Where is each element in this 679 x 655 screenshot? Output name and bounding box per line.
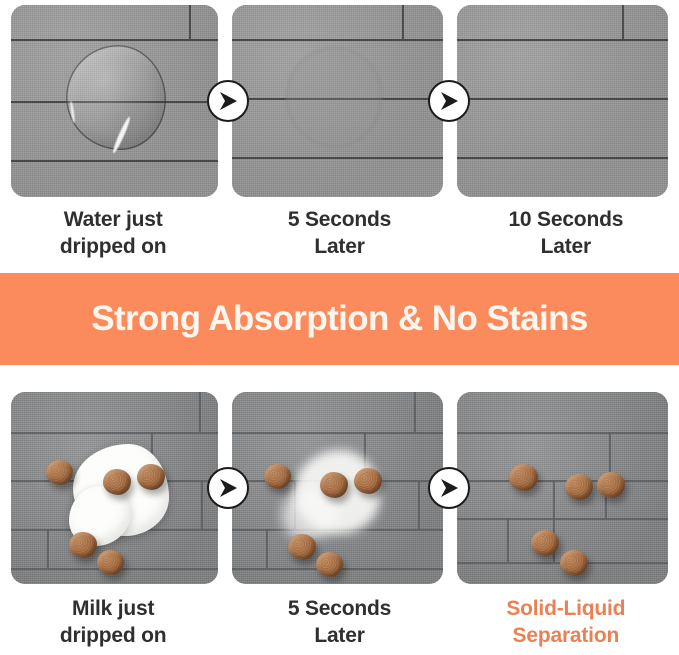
grout-line	[402, 5, 404, 39]
caption-line: Later	[453, 234, 679, 261]
caption-solid-liquid-separation: Solid-Liquid Separation	[453, 596, 679, 650]
caption-water-just-dripped: Water just dripped on	[0, 207, 226, 261]
tile-seam	[457, 518, 668, 520]
caption-line: 5 Seconds	[226, 207, 452, 234]
kibble-piece	[97, 550, 124, 575]
panel-water-just-dripped	[11, 5, 218, 197]
panel-water-10-seconds-later	[457, 5, 668, 197]
water-droplet	[66, 45, 166, 150]
kibble-piece	[69, 532, 97, 558]
tile-seam	[201, 480, 203, 529]
water-sequence-captions: Water just dripped on 5 Seconds Later 10…	[0, 207, 679, 261]
grout-line	[232, 39, 443, 41]
kibble-piece	[320, 472, 348, 498]
caption-line: dripped on	[0, 234, 226, 261]
tile-seam	[199, 392, 201, 432]
arrow-right-icon	[207, 467, 249, 509]
tile-seam	[507, 518, 509, 562]
kibble-piece	[288, 534, 316, 560]
kibble-piece	[509, 464, 538, 491]
grout-line	[457, 157, 668, 159]
kibble-piece	[316, 552, 343, 577]
caption-milk-just-dripped: Milk just dripped on	[0, 596, 226, 650]
stone-plank-texture	[457, 5, 668, 197]
panel-milk-just-dripped	[11, 392, 218, 584]
grout-line	[622, 5, 624, 39]
caption-line: Solid-Liquid	[453, 596, 679, 623]
caption-line: Separation	[453, 623, 679, 650]
water-stain-faded	[286, 47, 382, 147]
panel-milk-solid-liquid-separation	[457, 392, 668, 584]
milk-sequence-captions: Milk just dripped on 5 Seconds Later Sol…	[0, 596, 679, 650]
tile-seam	[457, 480, 668, 482]
milk-sequence-panels	[0, 392, 679, 584]
arrow-right-icon	[207, 80, 249, 122]
grout-line	[457, 98, 668, 100]
tile-seam	[414, 392, 416, 432]
caption-milk-5-seconds: 5 Seconds Later	[226, 596, 452, 650]
caption-line: 10 Seconds	[453, 207, 679, 234]
arrow-right-icon	[428, 467, 470, 509]
tile-seam	[266, 529, 268, 568]
caption-water-5-seconds: 5 Seconds Later	[226, 207, 452, 261]
panel-milk-5-seconds-later	[232, 392, 443, 584]
caption-line: 5 Seconds	[226, 596, 452, 623]
tile-seam	[418, 480, 420, 529]
grout-line	[232, 157, 443, 159]
banner-headline: Strong Absorption & No Stains	[91, 299, 588, 339]
caption-line: Later	[226, 234, 452, 261]
kibble-piece	[46, 460, 73, 485]
kibble-piece	[354, 468, 382, 494]
panel-water-5-seconds-later	[232, 5, 443, 197]
kibble-piece	[264, 464, 291, 489]
grout-line	[11, 39, 218, 41]
kibble-piece	[597, 472, 625, 498]
tile-seam	[457, 432, 668, 434]
absorption-comparison-infographic: Water just dripped on 5 Seconds Later 10…	[0, 0, 679, 655]
arrow-right-icon	[428, 80, 470, 122]
kibble-piece	[531, 530, 559, 556]
caption-line: Later	[226, 623, 452, 650]
grout-line	[189, 5, 191, 39]
caption-line: Milk just	[0, 596, 226, 623]
kibble-piece	[137, 464, 165, 490]
kibble-piece	[103, 469, 131, 495]
headline-banner: Strong Absorption & No Stains	[0, 273, 679, 365]
caption-line: dripped on	[0, 623, 226, 650]
water-sequence-panels	[0, 5, 679, 197]
tile-seam	[232, 432, 443, 434]
grout-line	[457, 39, 668, 41]
tile-seam	[47, 529, 49, 568]
tile-seam	[11, 432, 218, 434]
kibble-piece	[560, 550, 588, 576]
caption-line: Water just	[0, 207, 226, 234]
kibble-piece	[565, 474, 593, 500]
caption-water-10-seconds: 10 Seconds Later	[453, 207, 679, 261]
grout-line	[11, 160, 218, 162]
